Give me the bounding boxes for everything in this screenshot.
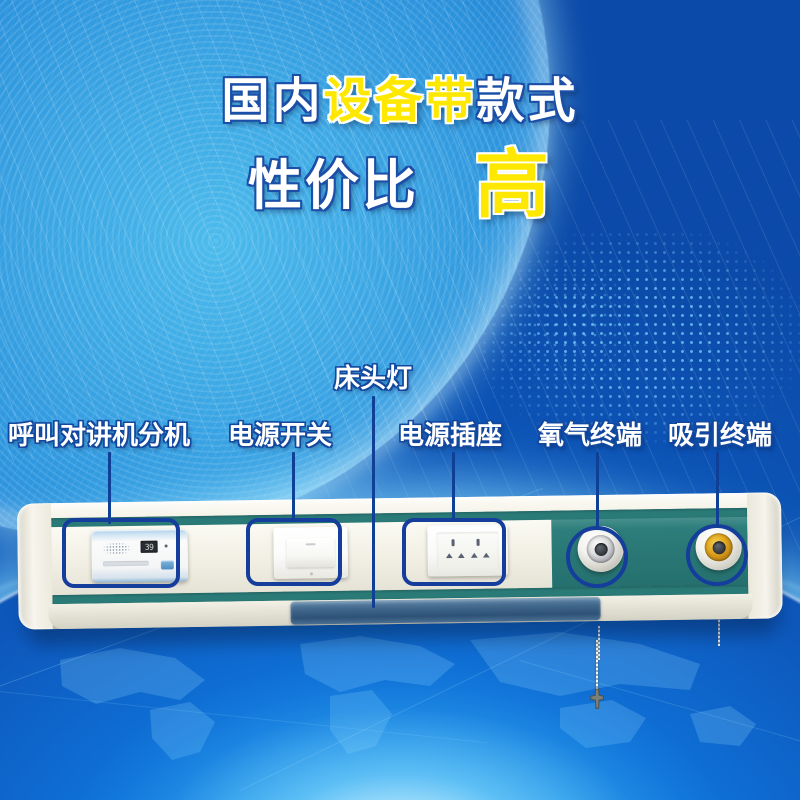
callout-label-switch: 电源开关	[228, 415, 332, 452]
headline-block: 国内设备带款式 性价比高	[0, 78, 800, 222]
leader-line-intercom	[108, 452, 111, 524]
leader-line-outlet	[452, 452, 455, 522]
callout-label-suction: 吸引终端	[668, 415, 772, 452]
poster-canvas: 国内设备带款式 性价比高 呼叫对讲机分机 电源开关 床头灯 电源插座 氧气终端 …	[0, 0, 800, 800]
leader-line-suction	[716, 452, 719, 528]
headline-seg-4: 性价比	[248, 156, 419, 216]
headline-seg-3: 款式	[477, 75, 579, 128]
callout-label-bedlamp: 床头灯	[334, 358, 412, 395]
callout-label-outlet: 电源插座	[398, 415, 502, 452]
headline-line-1: 国内设备带款式	[0, 78, 800, 126]
headline-seg-1: 国内	[221, 75, 323, 128]
callout-label-oxygen: 氧气终端	[538, 415, 642, 452]
leader-line-switch	[292, 452, 295, 522]
headline-line-2: 性价比高	[0, 148, 800, 222]
callout-label-intercom: 呼叫对讲机分机	[8, 415, 190, 452]
leader-line-oxygen	[596, 452, 599, 530]
headline-seg-2: 设备带	[323, 75, 476, 128]
headline-seg-5: 高	[475, 143, 552, 226]
leader-line-bedlamp	[372, 396, 375, 608]
